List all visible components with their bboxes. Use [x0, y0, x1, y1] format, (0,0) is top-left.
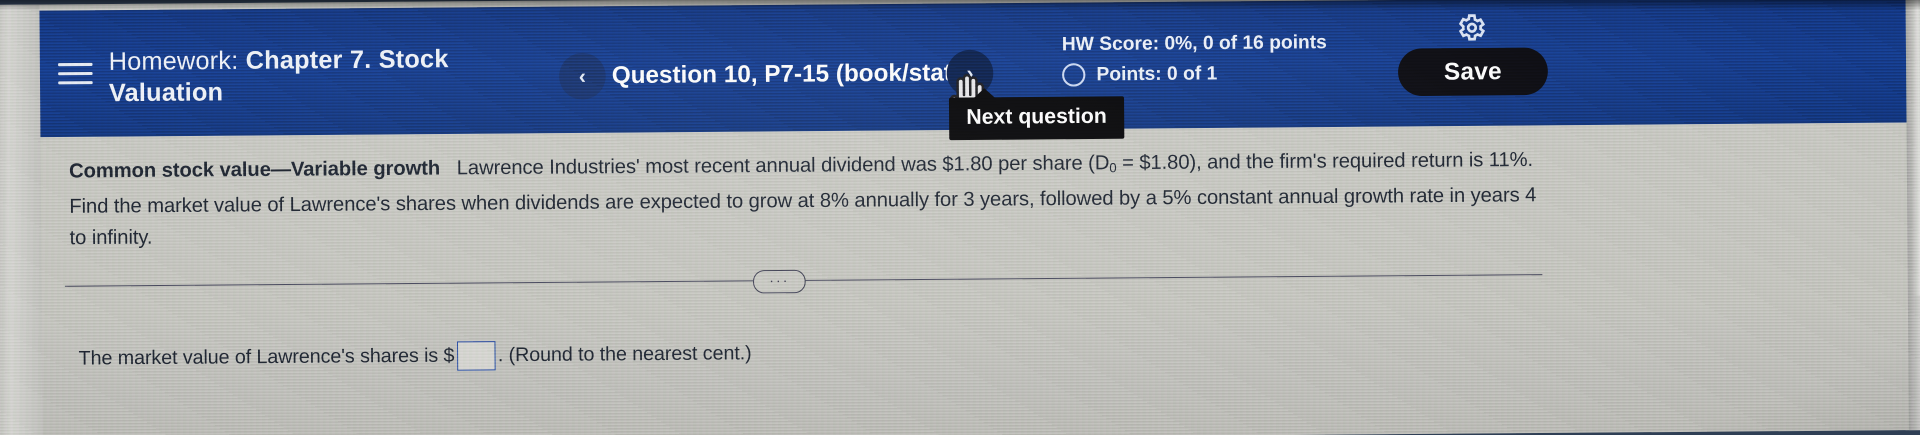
- answer-prompt-before: The market value of Lawrence's shares is…: [79, 344, 455, 370]
- question-topic: Common stock value—Variable growth: [69, 157, 440, 182]
- question-body-part1: Lawrence Industries' most recent annual …: [457, 152, 1110, 179]
- vertical-scrollbar-thumb[interactable]: [1910, 0, 1920, 296]
- hamburger-menu-icon[interactable]: [58, 57, 93, 84]
- score-summary: HW Score: 0%, 0 of 16 points Points: 0 o…: [1062, 29, 1327, 89]
- window-left-gutter: [0, 5, 43, 435]
- gear-icon[interactable]: [1454, 11, 1487, 44]
- next-question-tooltip: Next question: [949, 96, 1124, 140]
- answer-input[interactable]: [457, 341, 496, 371]
- tooltip-arrow: [973, 88, 995, 98]
- screen-content: Homework: Chapter 7. Stock Valuation ‹ Q…: [0, 0, 1920, 435]
- question-title: Question 10, P7-15 (book/static): [612, 52, 946, 97]
- answer-prompt-after: . (Round to the nearest cent.): [498, 342, 752, 367]
- homework-label: Homework:: [109, 47, 239, 76]
- homework-title: Homework: Chapter 7. Stock Valuation: [109, 43, 514, 109]
- top-edge-shadow: [0, 0, 1920, 10]
- save-button[interactable]: Save: [1398, 47, 1548, 96]
- prev-question-button[interactable]: ‹: [559, 53, 606, 100]
- tooltip-label: Next question: [966, 105, 1107, 129]
- question-body: Common stock value—Variable growth Lawre…: [69, 145, 1547, 255]
- points-text: Points: 0 of 1: [1096, 60, 1217, 88]
- question-text: Common stock value—Variable growth Lawre…: [69, 145, 1547, 255]
- window-right-gutter: [1905, 0, 1920, 430]
- divider-expand-button[interactable]: ···: [753, 270, 806, 294]
- screen-photo: Homework: Chapter 7. Stock Valuation ‹ Q…: [0, 0, 1920, 435]
- points-circle-icon: [1062, 63, 1085, 86]
- hw-score-text: HW Score: 0%, 0 of 16 points: [1062, 29, 1327, 58]
- answer-row: The market value of Lawrence's shares is…: [79, 339, 752, 374]
